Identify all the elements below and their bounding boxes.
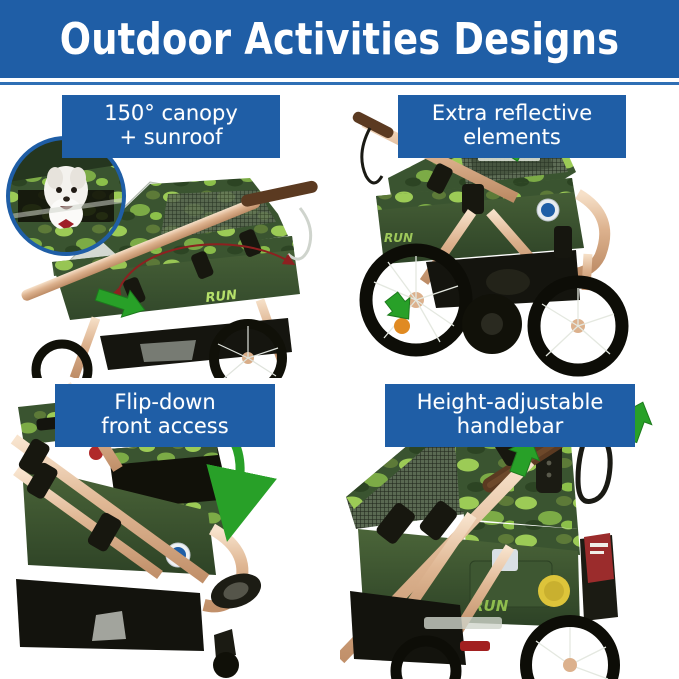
caption-line-2: handlebar	[395, 415, 625, 439]
feature-grid: RUN	[0, 86, 679, 679]
caption-line-1: 150° canopy	[72, 102, 270, 126]
caption-flip-down-front-access: Flip-down front access	[55, 384, 275, 447]
caption-line-2: elements	[408, 126, 616, 150]
middle-wheel	[462, 294, 522, 354]
caption-line-1: Flip-down	[65, 391, 265, 415]
caption-canopy-sunroof: 150° canopy + sunroof	[62, 95, 280, 158]
header-banner: Outdoor Activities Designs	[0, 0, 679, 78]
infographic-page: Outdoor Activities Designs	[0, 0, 679, 679]
panel-flip-down-front-access[interactable]: Flip-down front access	[0, 379, 339, 679]
header-divider	[0, 82, 679, 85]
caption-height-adjustable-handlebar: Height-adjustable handlebar	[385, 384, 635, 447]
brand-tag-run: RUN	[205, 288, 238, 306]
panel-height-adjustable-handlebar[interactable]: RUN	[340, 379, 679, 679]
caption-line-2: + sunroof	[72, 126, 270, 150]
caption-line-2: front access	[65, 415, 265, 439]
panel-canopy-sunroof[interactable]: RUN	[0, 86, 339, 378]
page-title: Outdoor Activities Designs	[24, 0, 655, 78]
wheel-reflector-orange	[394, 318, 410, 334]
caption-line-1: Height-adjustable	[395, 391, 625, 415]
front-wheel	[534, 282, 622, 370]
brand-tag-run-2: RUN	[384, 231, 413, 245]
caption-line-1: Extra reflective	[408, 102, 616, 126]
caption-reflective-elements: Extra reflective elements	[398, 95, 626, 158]
panel-reflective-elements[interactable]: RUN	[340, 86, 679, 378]
